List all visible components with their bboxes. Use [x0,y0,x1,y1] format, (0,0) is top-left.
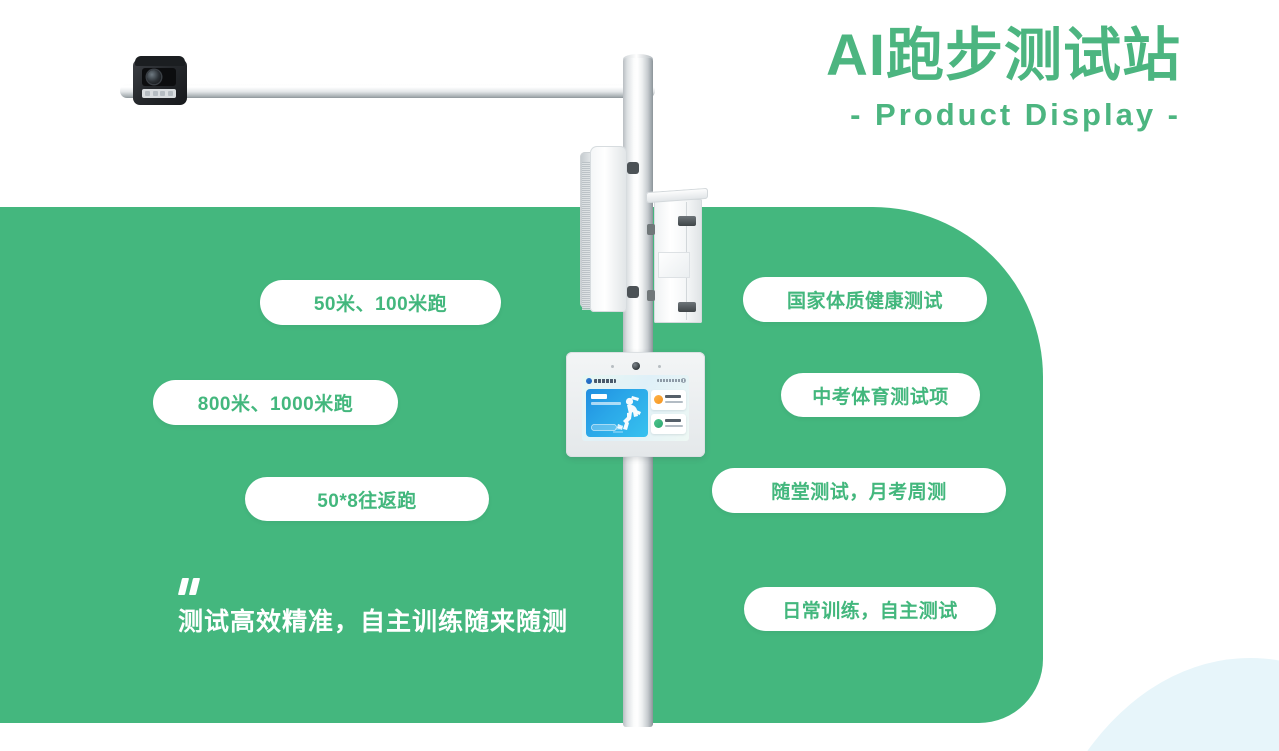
feature-pill-50m-100m[interactable]: 50米、100米跑 [260,280,501,325]
running-figure-icon [612,393,646,435]
page-subtitle: - Product Display - [826,97,1181,133]
terminal-sensor-row [566,362,705,370]
menu-card-orange[interactable] [651,390,686,410]
screen-menu-cards [651,390,686,438]
product-display-poster: AI跑步测试站 - Product Display - 50米、100米跑 80… [0,0,1279,751]
screen-topbar [582,375,689,386]
terminal-screen [582,375,689,441]
feature-pill-national-fitness-test[interactable]: 国家体质健康测试 [743,277,987,322]
touchscreen-terminal [566,352,705,457]
feature-pill-class-monthly-test[interactable]: 随堂测试，月考周测 [712,468,1006,513]
feature-pill-daily-training[interactable]: 日常训练，自主测试 [744,587,996,631]
tagline-block: 测试高效精准，自主训练随来随测 [178,578,568,638]
horizontal-pole [120,84,655,98]
running-test-hero-card [586,389,648,437]
tagline-text: 测试高效精准，自主训练随来随测 [178,602,568,638]
feature-pill-zhongkao-pe-test[interactable]: 中考体育测试项 [781,373,980,417]
equipment-cabinet [650,190,706,325]
screen-status-indicator-icon [681,378,686,383]
bullet-camera-icon [133,59,187,105]
feature-pill-800m-1000m[interactable]: 800米、1000米跑 [153,380,398,425]
poster-header: AI跑步测试站 - Product Display - [826,26,1181,133]
quote-mark-icon [180,578,568,596]
menu-card-green[interactable] [651,414,686,434]
column-speaker [580,146,627,312]
terminal-camera-icon [632,362,640,370]
feature-pill-shuttle-run[interactable]: 50*8往返跑 [245,477,489,521]
page-title: AI跑步测试站 [826,26,1181,87]
screen-brand-logo [586,378,616,384]
